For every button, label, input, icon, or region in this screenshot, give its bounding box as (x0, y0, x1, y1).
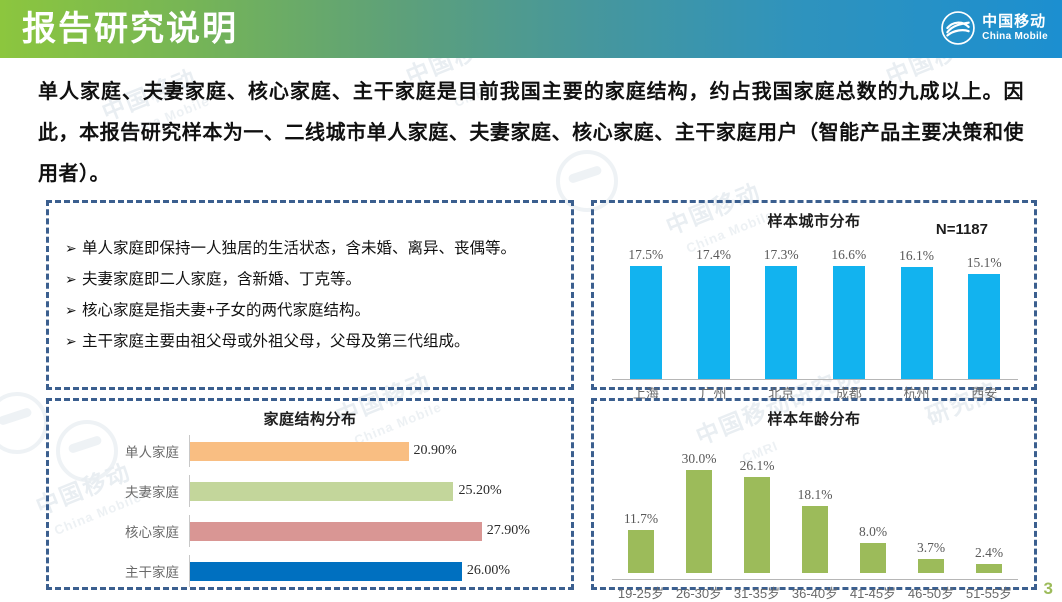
bar-value-label: 17.5% (628, 247, 663, 263)
category-label: 46-50岁 (902, 583, 960, 602)
age-category-labels: 19-25岁26-30岁31-35岁36-40岁41-45岁46-50岁51-5… (612, 583, 1018, 602)
bar (860, 543, 886, 573)
page-title: 报告研究说明 (22, 7, 238, 51)
bar-value-label: 26.00% (467, 563, 510, 579)
logo-text-cn: 中国移动 (982, 14, 1048, 29)
family-structure-panel: 家庭结构分布 单人家庭20.90%夫妻家庭25.20%核心家庭27.90%主干家… (46, 398, 574, 590)
definition-text: 核心家庭是指夫妻+子女的两代家庭结构。 (82, 295, 561, 326)
bar-column: 11.7% (612, 451, 670, 573)
bar (918, 559, 944, 573)
city-distribution-panel: 样本城市分布 N=1187 17.5%17.4%17.3%16.6%16.1%1… (591, 200, 1037, 390)
bar-value-label: 26.1% (740, 458, 775, 474)
bar (744, 477, 770, 573)
bar-row: 核心家庭27.90% (63, 515, 559, 547)
category-label: 19-25岁 (612, 583, 670, 602)
bar-column: 15.1% (950, 247, 1018, 379)
bar-value-label: 16.6% (831, 247, 866, 263)
bar-value-label: 3.7% (917, 540, 945, 556)
age-axis-line (612, 579, 1018, 580)
bar (630, 266, 662, 379)
bar (802, 506, 828, 573)
bar (190, 482, 453, 501)
city-axis-line (612, 379, 1018, 380)
definition-list: ➢ 单人家庭即保持一人独居的生活状态，含未婚、离异、丧偶等。 ➢ 夫妻家庭即二人… (65, 233, 561, 357)
bar (765, 266, 797, 379)
bar-column: 2.4% (960, 451, 1018, 573)
category-label: 51-55岁 (960, 583, 1018, 602)
definition-text: 夫妻家庭即二人家庭，含新婚、丁克等。 (82, 264, 561, 295)
bar-column: 17.4% (680, 247, 748, 379)
bar (190, 562, 462, 581)
bar (968, 274, 1000, 379)
arrow-bullet-icon: ➢ (65, 326, 82, 357)
list-item: ➢ 单人家庭即保持一人独居的生活状态，含未婚、离异、丧偶等。 (65, 233, 561, 264)
chart-title-structure: 家庭结构分布 (49, 408, 571, 429)
bar (698, 266, 730, 379)
bar (190, 442, 409, 461)
bar-column: 18.1% (786, 451, 844, 573)
bar-column: 16.6% (815, 247, 883, 379)
bar-value-label: 30.0% (682, 451, 717, 467)
bar (901, 267, 933, 379)
bar-value-label: 25.20% (458, 483, 501, 499)
category-label: 夫妻家庭 (63, 481, 189, 501)
arrow-bullet-icon: ➢ (65, 264, 82, 295)
category-label: 36-40岁 (786, 583, 844, 602)
arrow-bullet-icon: ➢ (65, 233, 82, 264)
list-item: ➢ 夫妻家庭即二人家庭，含新婚、丁克等。 (65, 264, 561, 295)
list-item: ➢ 核心家庭是指夫妻+子女的两代家庭结构。 (65, 295, 561, 326)
chart-title-age: 样本年龄分布 (594, 408, 1034, 429)
bar (976, 564, 1002, 573)
china-mobile-logo-icon (941, 11, 975, 45)
age-distribution-panel: 样本年龄分布 11.7%30.0%26.1%18.1%8.0%3.7%2.4% … (591, 398, 1037, 590)
bar-column: 30.0% (670, 451, 728, 573)
definitions-panel: ➢ 单人家庭即保持一人独居的生活状态，含未婚、离异、丧偶等。 ➢ 夫妻家庭即二人… (46, 200, 574, 390)
arrow-bullet-icon: ➢ (65, 295, 82, 326)
bar (190, 522, 482, 541)
bar-value-label: 17.3% (764, 247, 799, 263)
bar (628, 530, 654, 573)
bar-value-label: 2.4% (975, 545, 1003, 561)
city-bar-chart: 17.5%17.4%17.3%16.6%16.1%15.1% 上海广州北京成都杭… (606, 231, 1024, 379)
category-label: 41-45岁 (844, 583, 902, 602)
category-label: 单人家庭 (63, 441, 189, 461)
bar (686, 470, 712, 573)
bar-value-label: 11.7% (624, 511, 658, 527)
bar-row: 夫妻家庭25.20% (63, 475, 559, 507)
bar-value-label: 20.90% (414, 443, 457, 459)
bar-row: 主干家庭26.00% (63, 555, 559, 587)
category-label: 核心家庭 (63, 521, 189, 541)
category-label: 主干家庭 (63, 561, 189, 581)
logo-text-en: China Mobile (982, 32, 1048, 42)
structure-bar-chart: 单人家庭20.90%夫妻家庭25.20%核心家庭27.90%主干家庭26.00% (63, 435, 559, 577)
page-number: 3 (1044, 579, 1053, 599)
bar-column: 17.3% (747, 247, 815, 379)
city-bars: 17.5%17.4%17.3%16.6%16.1%15.1% (612, 247, 1018, 379)
bar-column: 16.1% (883, 247, 951, 379)
bar-column: 3.7% (902, 451, 960, 573)
bar-row: 单人家庭20.90% (63, 435, 559, 467)
bar-value-label: 16.1% (899, 248, 934, 264)
age-bar-chart: 11.7%30.0%26.1%18.1%8.0%3.7%2.4% 19-25岁2… (606, 429, 1024, 579)
definition-text: 单人家庭即保持一人独居的生活状态，含未婚、离异、丧偶等。 (82, 233, 561, 264)
definition-text: 主干家庭主要由祖父母或外祖父母，父母及第三代组成。 (82, 326, 561, 357)
bar (833, 266, 865, 379)
bar-column: 17.5% (612, 247, 680, 379)
bar-value-label: 27.90% (487, 523, 530, 539)
bar-value-label: 17.4% (696, 247, 731, 263)
category-label: 31-35岁 (728, 583, 786, 602)
category-label: 26-30岁 (670, 583, 728, 602)
bar-column: 26.1% (728, 451, 786, 573)
bar-value-label: 15.1% (967, 255, 1002, 271)
intro-paragraph: 单人家庭、夫妻家庭、核心家庭、主干家庭是目前我国主要的家庭结构，约占我国家庭总数… (38, 72, 1024, 195)
china-mobile-logo: 中国移动 China Mobile (941, 11, 1048, 45)
page-header: 报告研究说明 中国移动 China Mobile (0, 0, 1062, 58)
bar-value-label: 8.0% (859, 524, 887, 540)
bar-column: 8.0% (844, 451, 902, 573)
list-item: ➢ 主干家庭主要由祖父母或外祖父母，父母及第三代组成。 (65, 326, 561, 357)
bar-value-label: 18.1% (798, 487, 833, 503)
age-bars: 11.7%30.0%26.1%18.1%8.0%3.7%2.4% (612, 451, 1018, 573)
